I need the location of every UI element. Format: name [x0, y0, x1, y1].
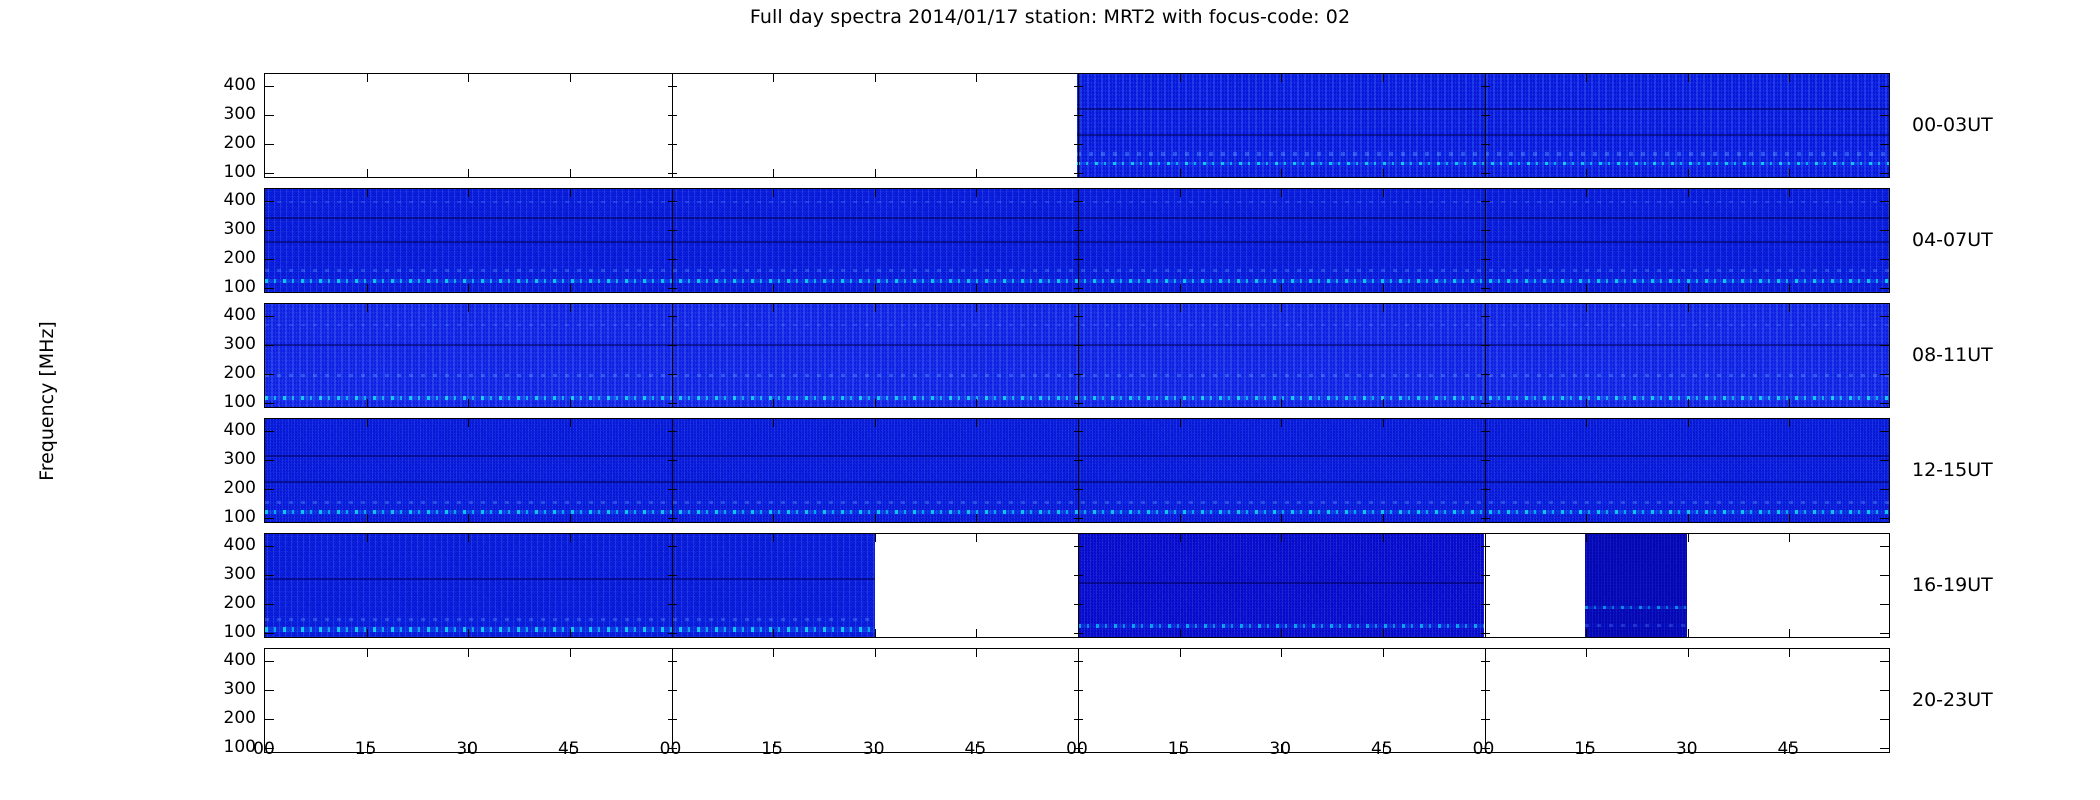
row-label-08-11UT: 08-11UT	[1912, 344, 1993, 366]
y-axis-tick	[1074, 86, 1083, 87]
y-axis-tick	[1074, 144, 1083, 145]
x-axis-tick	[1281, 189, 1282, 197]
x-axis-tick	[976, 419, 977, 427]
x-axis-tick	[875, 399, 876, 407]
row-label-20-23UT: 20-23UT	[1912, 689, 1993, 711]
spectrogram-panel-12-15UT[interactable]	[264, 418, 1890, 523]
y-axis-tick	[265, 403, 274, 404]
y-axis-tick	[1074, 489, 1083, 490]
x-axis-tick	[1688, 169, 1689, 177]
x-axis-tick	[1688, 74, 1689, 82]
y-axis-tick-label: 200	[204, 593, 256, 613]
y-axis-tick-label: 200	[204, 133, 256, 153]
spectrogram-figure: Full day spectra 2014/01/17 station: MRT…	[0, 0, 2100, 800]
x-axis-tick-label: 45	[1768, 739, 1808, 759]
y-axis-tick-label: 300	[204, 679, 256, 699]
y-axis-tick-label: 400	[204, 190, 256, 210]
x-axis-tick	[1180, 189, 1181, 197]
y-axis-tick	[265, 661, 274, 662]
y-axis-tick	[1481, 546, 1490, 547]
panel-gridline	[1485, 189, 1486, 292]
x-axis-tick	[1078, 304, 1079, 312]
y-axis-tick	[1074, 259, 1083, 260]
x-axis-tick	[1180, 169, 1181, 177]
y-axis-tick	[265, 230, 274, 231]
y-axis-tick-label: 300	[204, 564, 256, 584]
y-axis-tick	[1074, 173, 1083, 174]
x-axis-tick	[570, 649, 571, 657]
y-axis-tick	[265, 345, 274, 346]
y-axis-tick-label: 100	[204, 392, 256, 412]
y-axis-tick	[265, 460, 274, 461]
x-axis-tick	[468, 534, 469, 542]
y-axis-tick	[1074, 661, 1083, 662]
y-axis-tick	[1880, 575, 1889, 576]
spectrogram-panel-16-19UT[interactable]	[264, 533, 1890, 638]
x-axis-tick	[1383, 514, 1384, 522]
x-axis-tick	[1789, 399, 1790, 407]
y-axis-tick	[1880, 230, 1889, 231]
x-axis-tick	[672, 304, 673, 312]
x-axis-tick	[1281, 419, 1282, 427]
x-axis-tick	[1485, 649, 1486, 657]
data-segment	[265, 304, 1889, 407]
y-axis-tick	[1880, 460, 1889, 461]
x-axis-tick	[976, 629, 977, 637]
panel-gridline	[1078, 419, 1079, 522]
y-axis-tick-label: 100	[204, 507, 256, 527]
spectrogram-panel-04-07UT[interactable]	[264, 188, 1890, 293]
y-axis-tick	[1481, 489, 1490, 490]
x-axis-tick-label: 00	[651, 739, 691, 759]
x-axis-tick	[1281, 649, 1282, 657]
x-axis-tick	[1383, 419, 1384, 427]
x-axis-tick	[1180, 284, 1181, 292]
y-axis-tick	[1880, 690, 1889, 691]
x-axis-tick	[1383, 629, 1384, 637]
y-axis-tick-label: 200	[204, 478, 256, 498]
x-axis-tick-label: 30	[1260, 739, 1300, 759]
y-axis-tick	[1481, 144, 1490, 145]
x-axis-tick	[570, 304, 571, 312]
x-axis-tick	[976, 399, 977, 407]
row-label-12-15UT: 12-15UT	[1912, 459, 1993, 481]
y-axis-tick	[265, 115, 274, 116]
x-axis-tick	[1688, 304, 1689, 312]
y-axis-tick	[265, 374, 274, 375]
panel-gridline	[672, 649, 673, 752]
panel-gridline	[1485, 649, 1486, 752]
x-axis-tick	[1383, 534, 1384, 542]
x-axis-tick	[1281, 74, 1282, 82]
x-axis-tick	[367, 169, 368, 177]
y-axis-tick-label: 300	[204, 334, 256, 354]
x-axis-tick	[1586, 514, 1587, 522]
panel-gridline	[1078, 74, 1079, 177]
x-axis-tick	[1586, 534, 1587, 542]
x-axis-tick	[468, 284, 469, 292]
x-axis-tick	[1078, 534, 1079, 542]
y-axis-tick	[1481, 345, 1490, 346]
x-axis-tick	[570, 284, 571, 292]
x-axis-tick	[1383, 74, 1384, 82]
x-axis-tick	[1789, 629, 1790, 637]
y-axis-tick	[1481, 374, 1490, 375]
data-segment	[265, 189, 1889, 292]
y-axis-tick	[1880, 374, 1889, 375]
x-axis-tick	[1078, 649, 1079, 657]
x-axis-tick	[367, 399, 368, 407]
y-axis-tick	[1880, 748, 1889, 749]
x-axis-tick	[875, 514, 876, 522]
y-axis-tick	[1880, 403, 1889, 404]
y-axis-tick	[1074, 431, 1083, 432]
x-axis-tick	[976, 284, 977, 292]
y-axis-tick	[1074, 604, 1083, 605]
x-axis-tick	[570, 534, 571, 542]
y-axis-tick	[1880, 345, 1889, 346]
panel-plot-area	[265, 304, 1889, 407]
x-axis-tick-label: 45	[549, 739, 589, 759]
x-axis-tick-label: 00	[1057, 739, 1097, 759]
x-axis-tick	[1281, 169, 1282, 177]
x-axis-tick	[773, 649, 774, 657]
y-axis-tick	[668, 661, 677, 662]
y-axis-tick	[1880, 115, 1889, 116]
y-axis-tick	[265, 288, 274, 289]
y-axis-tick	[668, 431, 677, 432]
y-axis-tick	[1481, 115, 1490, 116]
x-axis-tick	[1688, 514, 1689, 522]
x-axis-tick	[1281, 629, 1282, 637]
x-axis-tick	[367, 74, 368, 82]
y-axis-tick-label: 200	[204, 708, 256, 728]
x-axis-tick-label: 45	[955, 739, 995, 759]
x-axis-tick-label: 15	[752, 739, 792, 759]
y-axis-tick	[1880, 661, 1889, 662]
x-axis-tick	[773, 629, 774, 637]
y-axis-tick-label: 400	[204, 305, 256, 325]
y-axis-tick	[1880, 201, 1889, 202]
y-axis-tick	[668, 518, 677, 519]
y-axis-tick	[1481, 575, 1490, 576]
x-axis-tick	[1078, 419, 1079, 427]
x-axis-tick	[367, 304, 368, 312]
x-axis-tick	[976, 74, 977, 82]
y-axis-tick	[1074, 201, 1083, 202]
x-axis-tick	[1789, 169, 1790, 177]
x-axis-tick	[875, 74, 876, 82]
y-axis-tick	[265, 719, 274, 720]
x-axis-tick	[570, 74, 571, 82]
x-axis-tick	[1281, 304, 1282, 312]
panel-plot-area	[265, 74, 1889, 177]
x-axis-tick	[1383, 399, 1384, 407]
y-axis-tick	[265, 86, 274, 87]
panel-gridline	[1078, 304, 1079, 407]
x-axis-tick	[1180, 629, 1181, 637]
y-axis-tick	[1481, 431, 1490, 432]
x-axis-tick	[367, 189, 368, 197]
x-axis-tick	[773, 534, 774, 542]
x-axis-tick	[367, 534, 368, 542]
y-axis-tick	[1880, 546, 1889, 547]
y-axis-tick	[1481, 288, 1490, 289]
x-axis-tick	[1789, 189, 1790, 197]
x-axis-tick	[672, 419, 673, 427]
y-axis-tick	[1481, 719, 1490, 720]
y-axis-tick	[1074, 115, 1083, 116]
panel-gridline	[1485, 74, 1486, 177]
spectrogram-panel-00-03UT[interactable]	[264, 73, 1890, 178]
y-axis-tick	[668, 144, 677, 145]
y-axis-tick	[1880, 518, 1889, 519]
y-axis-tick	[265, 144, 274, 145]
x-axis-tick	[672, 189, 673, 197]
x-axis-tick	[1180, 399, 1181, 407]
y-axis-tick	[1481, 604, 1490, 605]
x-axis-tick-label: 15	[1159, 739, 1199, 759]
x-axis-tick	[773, 169, 774, 177]
x-axis-tick	[367, 629, 368, 637]
y-axis-tick	[1074, 518, 1083, 519]
x-axis-tick	[875, 304, 876, 312]
y-axis-tick	[1074, 690, 1083, 691]
x-axis-tick	[1180, 649, 1181, 657]
x-axis-tick	[1789, 649, 1790, 657]
y-axis-tick	[1481, 403, 1490, 404]
x-axis-tick	[672, 534, 673, 542]
x-axis-tick	[1586, 419, 1587, 427]
x-axis-tick	[1281, 399, 1282, 407]
y-axis-tick-label: 400	[204, 650, 256, 670]
y-axis-tick	[1074, 633, 1083, 634]
x-axis-tick	[1485, 74, 1486, 82]
x-axis-tick	[875, 419, 876, 427]
x-axis-tick	[875, 189, 876, 197]
y-axis-tick	[1880, 431, 1889, 432]
y-axis-tick	[1481, 259, 1490, 260]
x-axis-tick	[1586, 284, 1587, 292]
y-axis-tick	[1074, 374, 1083, 375]
y-axis-tick	[1880, 489, 1889, 490]
x-axis-tick	[570, 169, 571, 177]
y-axis-tick-label: 100	[204, 622, 256, 642]
y-axis-tick	[1481, 230, 1490, 231]
x-axis-tick-label: 00	[244, 739, 284, 759]
y-axis-tick	[1880, 259, 1889, 260]
x-axis-tick	[875, 649, 876, 657]
x-axis-tick-label: 15	[1565, 739, 1605, 759]
y-axis-tick-label: 200	[204, 248, 256, 268]
x-axis-tick	[570, 629, 571, 637]
y-axis-tick	[1074, 719, 1083, 720]
y-axis-tick	[1481, 690, 1490, 691]
figure-title: Full day spectra 2014/01/17 station: MRT…	[0, 6, 2100, 28]
x-axis-tick	[875, 169, 876, 177]
y-axis-tick	[668, 719, 677, 720]
x-axis-tick	[468, 419, 469, 427]
panel-gridline	[1078, 649, 1079, 752]
y-axis-tick	[668, 345, 677, 346]
x-axis-tick	[773, 284, 774, 292]
x-axis-tick	[1586, 189, 1587, 197]
x-axis-tick	[1586, 74, 1587, 82]
x-axis-tick	[976, 304, 977, 312]
y-axis-tick	[1880, 288, 1889, 289]
panel-plot-area	[265, 649, 1889, 752]
x-axis-tick	[1789, 419, 1790, 427]
y-axis-tick	[1074, 230, 1083, 231]
spectrogram-panel-20-23UT[interactable]	[264, 648, 1890, 753]
y-axis-tick	[265, 518, 274, 519]
y-axis-tick	[265, 259, 274, 260]
x-axis-tick	[976, 189, 977, 197]
x-axis-tick	[1688, 419, 1689, 427]
panel-gridline	[1485, 534, 1486, 637]
y-axis-label: Frequency [MHz]	[36, 271, 58, 531]
x-axis-tick	[1180, 74, 1181, 82]
x-axis-tick	[1485, 534, 1486, 542]
y-axis-tick-label: 400	[204, 420, 256, 440]
x-axis-tick	[1078, 189, 1079, 197]
y-axis-tick	[265, 431, 274, 432]
x-axis-tick	[1281, 534, 1282, 542]
x-axis-tick	[367, 514, 368, 522]
x-axis-tick	[468, 629, 469, 637]
y-axis-tick	[265, 604, 274, 605]
y-axis-tick	[1880, 316, 1889, 317]
y-axis-tick	[1880, 144, 1889, 145]
y-axis-tick	[668, 374, 677, 375]
x-axis-tick	[976, 534, 977, 542]
y-axis-tick	[265, 633, 274, 634]
x-axis-tick	[1688, 284, 1689, 292]
y-axis-tick	[1074, 288, 1083, 289]
x-axis-tick	[468, 304, 469, 312]
x-axis-tick	[1688, 629, 1689, 637]
y-axis-tick	[265, 575, 274, 576]
y-axis-tick	[1880, 604, 1889, 605]
y-axis-tick	[1074, 460, 1083, 461]
y-axis-tick-label: 100	[204, 277, 256, 297]
x-axis-tick	[1281, 284, 1282, 292]
x-axis-tick	[1180, 304, 1181, 312]
data-segment	[1077, 74, 1889, 177]
y-axis-tick	[668, 115, 677, 116]
x-axis-tick	[1688, 399, 1689, 407]
x-axis-tick	[468, 189, 469, 197]
y-axis-tick	[265, 546, 274, 547]
x-axis-tick	[1789, 514, 1790, 522]
y-axis-tick	[1481, 316, 1490, 317]
x-axis-tick	[1180, 419, 1181, 427]
y-axis-tick	[668, 633, 677, 634]
y-axis-tick	[668, 259, 677, 260]
panel-plot-area	[265, 534, 1889, 637]
panel-gridline	[672, 74, 673, 177]
y-axis-tick	[668, 288, 677, 289]
y-axis-tick	[668, 575, 677, 576]
x-axis-tick	[468, 649, 469, 657]
y-axis-tick-label: 200	[204, 363, 256, 383]
y-axis-tick	[668, 690, 677, 691]
x-axis-tick	[1586, 649, 1587, 657]
x-axis-tick	[570, 189, 571, 197]
y-axis-tick-label: 300	[204, 104, 256, 124]
x-axis-tick	[1789, 74, 1790, 82]
y-axis-tick	[265, 201, 274, 202]
y-axis-tick-label: 300	[204, 449, 256, 469]
x-axis-tick	[367, 649, 368, 657]
y-axis-tick	[1074, 345, 1083, 346]
y-axis-tick	[1481, 661, 1490, 662]
y-axis-tick	[265, 489, 274, 490]
y-axis-tick	[1481, 633, 1490, 634]
row-label-16-19UT: 16-19UT	[1912, 574, 1993, 596]
x-axis-tick	[875, 284, 876, 292]
panel-gridline	[1485, 304, 1486, 407]
x-axis-tick	[773, 189, 774, 197]
y-axis-tick	[668, 489, 677, 490]
x-axis-tick	[570, 514, 571, 522]
x-axis-tick	[1789, 284, 1790, 292]
x-axis-tick-label: 30	[447, 739, 487, 759]
x-axis-tick	[875, 629, 876, 637]
panel-gridline	[672, 304, 673, 407]
x-axis-tick	[1180, 514, 1181, 522]
panel-gridline	[672, 534, 673, 637]
x-axis-tick	[1485, 189, 1486, 197]
y-axis-tick	[1481, 201, 1490, 202]
x-axis-tick	[1078, 74, 1079, 82]
y-axis-tick	[1481, 460, 1490, 461]
panel-gridline	[1485, 419, 1486, 522]
y-axis-tick	[1074, 546, 1083, 547]
spectrogram-panel-08-11UT[interactable]	[264, 303, 1890, 408]
y-axis-tick	[1880, 173, 1889, 174]
x-axis-tick	[367, 284, 368, 292]
x-axis-tick	[1180, 534, 1181, 542]
y-axis-tick	[1074, 575, 1083, 576]
y-axis-tick	[668, 230, 677, 231]
x-axis-tick	[1688, 649, 1689, 657]
x-axis-tick-label: 00	[1464, 739, 1504, 759]
y-axis-tick	[265, 316, 274, 317]
x-axis-tick	[976, 649, 977, 657]
x-axis-tick	[1586, 169, 1587, 177]
x-axis-tick	[672, 74, 673, 82]
y-axis-tick	[668, 173, 677, 174]
y-axis-tick	[668, 546, 677, 547]
y-axis-tick	[668, 316, 677, 317]
y-axis-tick	[1481, 518, 1490, 519]
x-axis-tick	[1789, 534, 1790, 542]
y-axis-tick	[1880, 719, 1889, 720]
y-axis-tick	[1880, 86, 1889, 87]
x-axis-tick	[1688, 534, 1689, 542]
x-axis-tick	[468, 169, 469, 177]
y-axis-tick	[668, 201, 677, 202]
row-label-04-07UT: 04-07UT	[1912, 229, 1993, 251]
x-axis-tick	[468, 74, 469, 82]
y-axis-tick	[668, 403, 677, 404]
x-axis-tick	[1383, 284, 1384, 292]
y-axis-tick-label: 100	[204, 162, 256, 182]
x-axis-tick	[1586, 304, 1587, 312]
y-axis-tick-label: 400	[204, 75, 256, 95]
x-axis-tick	[570, 419, 571, 427]
